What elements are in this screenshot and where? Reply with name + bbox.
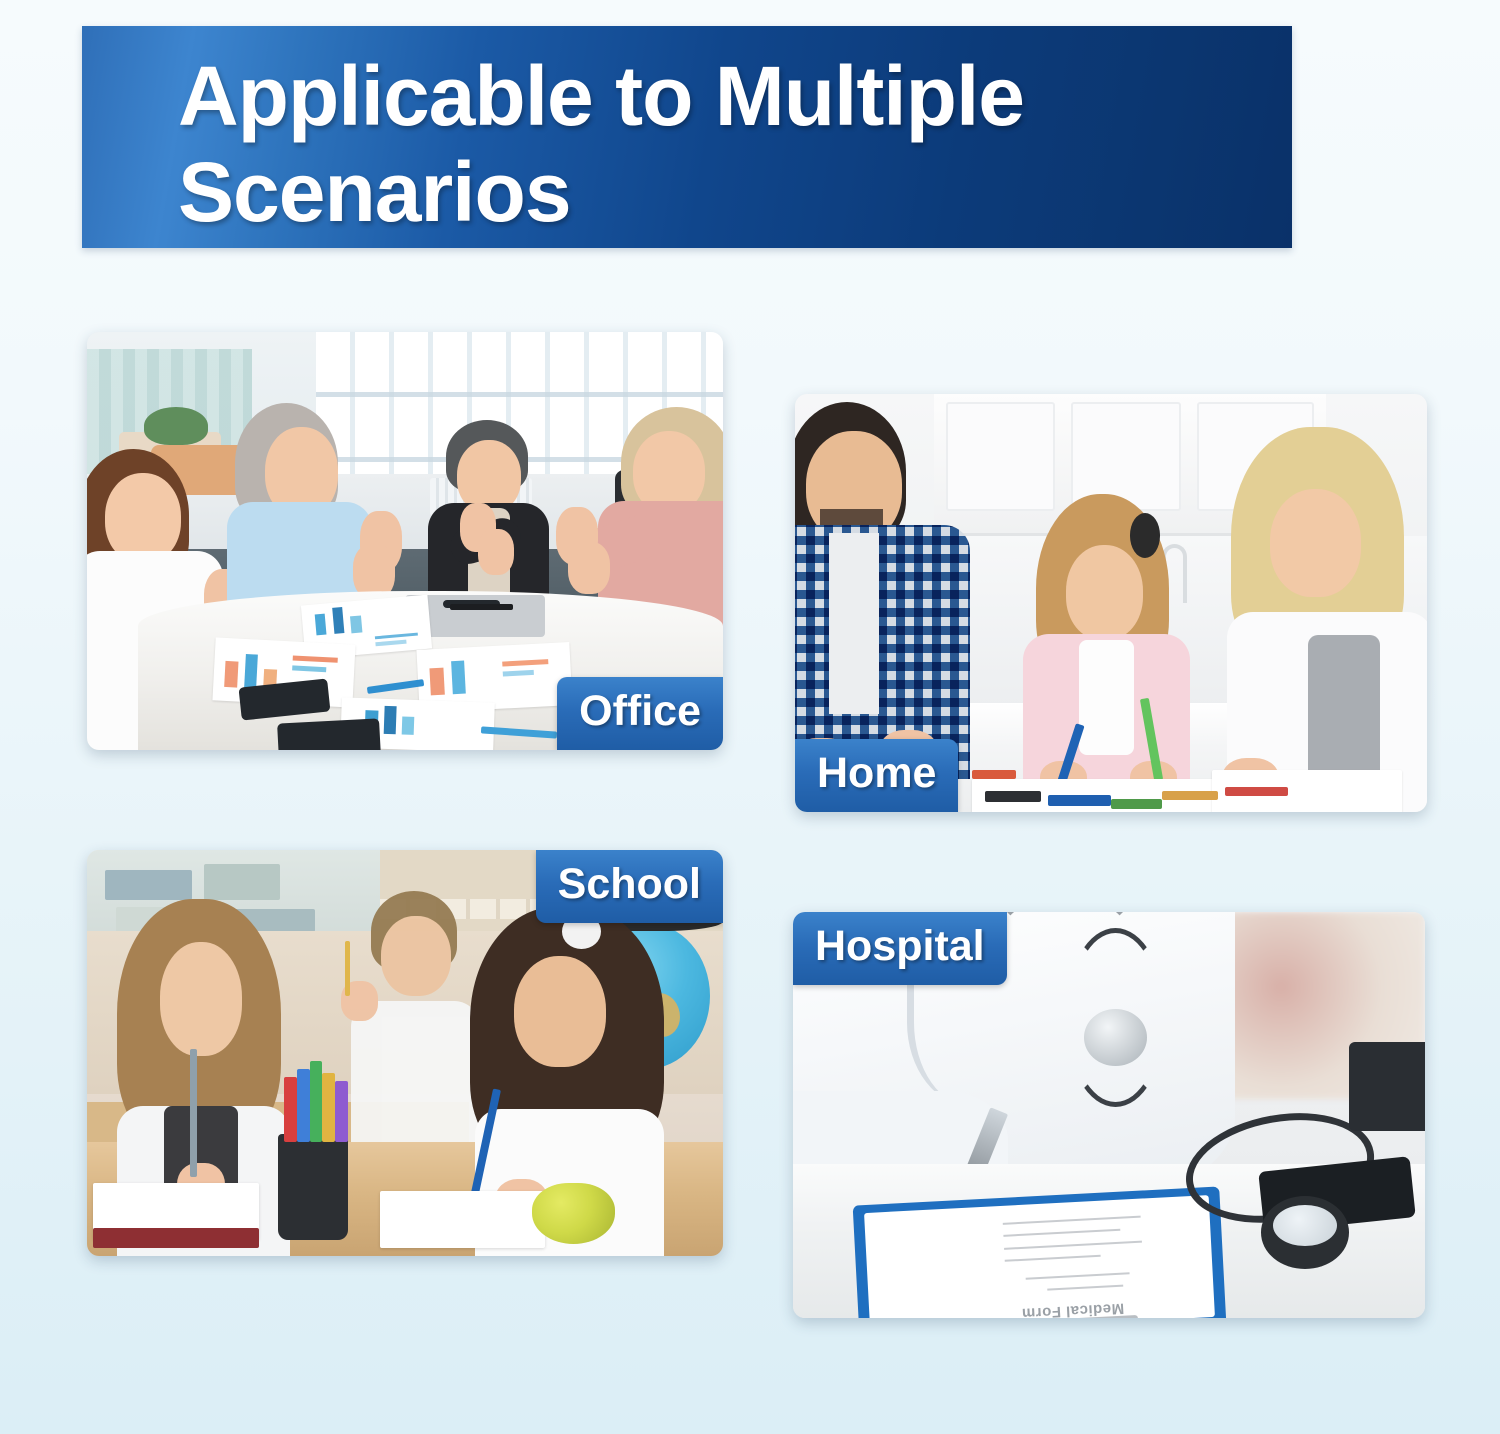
title-line-1: Applicable to Multiple	[178, 49, 1024, 143]
medical-form-label: Medical Form	[1021, 1300, 1124, 1318]
badge-school[interactable]: School	[536, 850, 723, 923]
bp-gauge-icon	[1261, 1196, 1349, 1269]
scenario-card-office[interactable]: Office	[87, 332, 723, 750]
badge-home[interactable]: Home	[795, 739, 958, 812]
page-title: Applicable to Multiple Scenarios	[178, 54, 1268, 234]
clipboard: Medical Form	[853, 1187, 1226, 1318]
scenario-card-hospital[interactable]: Medical Form Hospital	[793, 912, 1425, 1318]
header-banner: Applicable to Multiple Scenarios	[82, 26, 1292, 248]
apple-icon	[532, 1183, 615, 1244]
title-line-2: Scenarios	[178, 150, 1268, 234]
badge-office[interactable]: Office	[557, 677, 723, 750]
home-person-mother	[1212, 427, 1427, 812]
home-person-girl	[1010, 494, 1225, 812]
badge-hospital[interactable]: Hospital	[793, 912, 1007, 985]
pencil-cup	[278, 1134, 348, 1240]
scenario-card-home[interactable]: Home	[795, 394, 1427, 812]
scenario-card-school[interactable]: School	[87, 850, 723, 1256]
